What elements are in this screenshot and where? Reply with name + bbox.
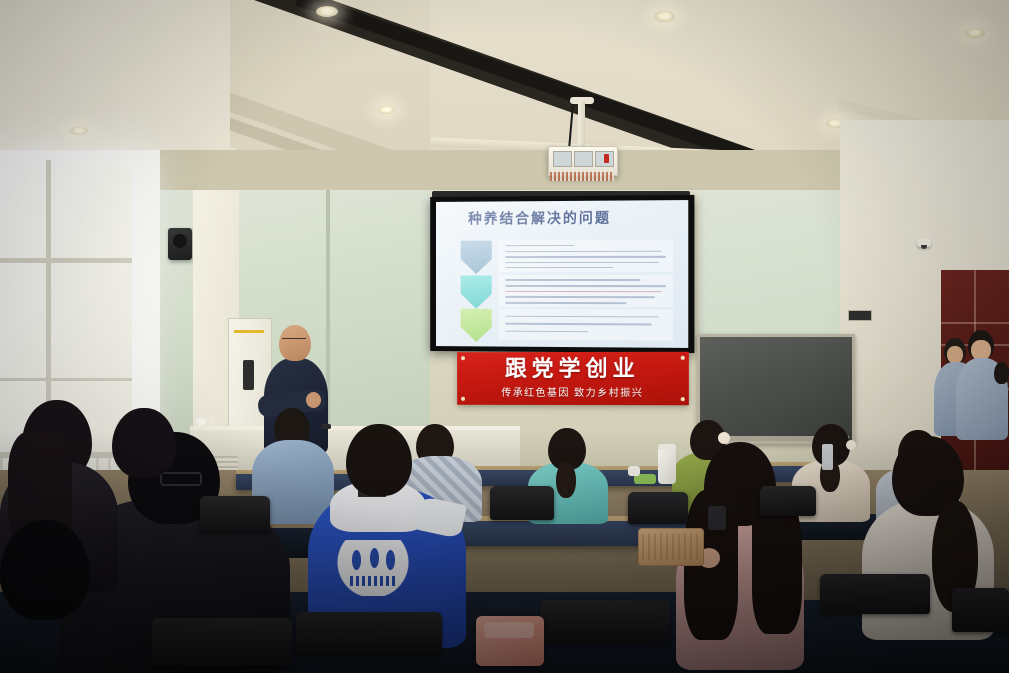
chair-back-right[interactable] <box>628 492 688 524</box>
security-camera-icon <box>917 238 931 247</box>
slide-title: 种养结合解决的问题 <box>468 208 670 229</box>
presenter-glasses-icon <box>282 338 306 343</box>
chair-mid-center[interactable] <box>296 612 442 654</box>
slide-bullet-row-3 <box>461 309 673 347</box>
projector-vent-grill <box>550 172 614 181</box>
presenter-hand <box>306 392 321 408</box>
attendee-olive-hair-clip <box>718 432 730 444</box>
water-bottle <box>822 444 833 470</box>
presenter-head <box>279 325 311 361</box>
tissue-box <box>206 414 215 426</box>
chair-back-center[interactable] <box>490 486 554 520</box>
window-rail <box>0 378 132 381</box>
downlight-5 <box>378 106 395 114</box>
thermos-cup <box>658 448 676 484</box>
banner-main-text: 跟党学创业 <box>505 358 640 380</box>
pink-bag-flap <box>484 622 534 638</box>
projector-indicator-light <box>604 154 609 163</box>
banner-grommet-br <box>681 397 685 401</box>
projector-pole <box>578 101 585 147</box>
chevron-icon-3 <box>461 309 492 342</box>
projector-panel-1 <box>553 151 572 167</box>
attendee-teal-ponytail <box>556 462 576 498</box>
attendee-mid-left-dark-head <box>112 408 176 478</box>
hoodie-graphic-eye-right <box>386 550 395 570</box>
hoodie-graphic-print <box>336 540 410 596</box>
classroom-scene: 种养结合解决的问题 <box>0 0 1009 673</box>
downlight-1 <box>316 6 338 17</box>
white-desk-item <box>628 466 640 476</box>
front-wall-upper-band <box>150 150 870 190</box>
attendee-front-left-glasses-icon <box>160 472 202 486</box>
slide-bullet-row-2 <box>461 275 673 312</box>
chair-back-far-right[interactable] <box>760 486 816 516</box>
banner-sub-text: 传承红色基因 致力乡村振兴 <box>501 384 643 399</box>
chevron-icon-2 <box>461 275 492 308</box>
air-conditioner-display[interactable] <box>243 360 254 390</box>
slide-text-block-2 <box>498 275 673 307</box>
presenter-watch <box>321 424 331 429</box>
attendee-blue-hoodie-head <box>346 424 412 496</box>
downlight-2 <box>654 11 675 22</box>
red-banner: 跟党学创业 传承红色基因 致力乡村振兴 <box>457 352 689 405</box>
projection-screen: 种养结合解决的问题 <box>436 200 688 348</box>
air-conditioner-label <box>234 330 264 333</box>
chevron-icon-1 <box>461 241 492 274</box>
wall-speaker-icon <box>168 228 192 260</box>
banner-grommet-tr <box>681 356 685 360</box>
banner-grommet-tl <box>461 356 465 360</box>
window-frame-horizontal <box>0 258 132 263</box>
downlight-4 <box>70 127 88 135</box>
chair-front-left[interactable] <box>152 618 292 666</box>
chair-front-right[interactable] <box>540 600 670 644</box>
slide-bullet-row-1 <box>461 240 673 277</box>
projection-screen-frame: 种养结合解决的问题 <box>430 195 694 353</box>
downlight-3 <box>965 28 985 38</box>
chair-mid-right[interactable] <box>820 574 930 614</box>
attendee-far-left-corner-head <box>0 520 90 620</box>
banner-grommet-bl <box>461 397 465 401</box>
chair-mid-left[interactable] <box>200 496 270 532</box>
slide-text-block-1 <box>498 240 673 272</box>
chair-right-edge[interactable] <box>952 588 1009 632</box>
hoodie-graphic-eye-center <box>370 548 379 568</box>
attendee-cream-hair-tie <box>846 440 856 450</box>
small-phone <box>708 506 726 530</box>
hoodie-graphic-mouth <box>350 576 396 586</box>
hoodie-graphic-eye-left <box>352 550 361 570</box>
wall-control-panel[interactable] <box>848 310 872 321</box>
projector-panel-2 <box>574 151 593 167</box>
standing-observer-3-head <box>994 362 1009 384</box>
handbag-texture <box>642 534 700 560</box>
thermos-lid <box>658 444 676 450</box>
slide-text-block-3 <box>498 309 673 341</box>
